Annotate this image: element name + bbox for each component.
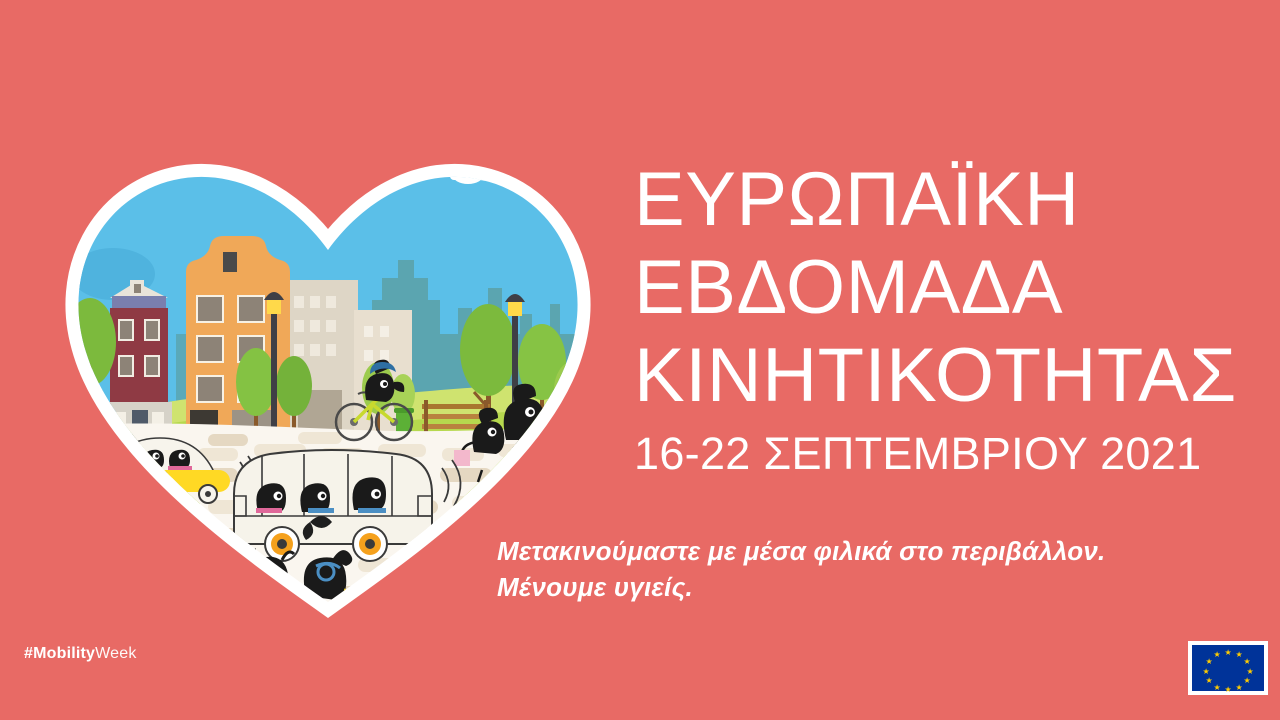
eu-star: ★ (1203, 668, 1210, 675)
shopping-bag (454, 450, 470, 466)
title-line-3: ΚΙΝΗΤΙΚΟΤΗΤΑΣ (634, 332, 1264, 420)
campaign-hashtag: #MobilityWeek (24, 645, 137, 663)
tagline-line-1: Μετακινούμαστε με μέσα φιλικά στο περιβά… (497, 533, 1257, 569)
hashtag-light: Week (95, 645, 136, 662)
eu-star: ★ (1225, 649, 1232, 656)
baby-stroller (550, 434, 586, 468)
event-date: 16-22 ΣΕΠΤΕΜΒΡΙΟΥ 2021 (634, 426, 1264, 482)
eu-flag-field: ★ ★ ★ ★ ★ ★ ★ ★ ★ ★ ★ ★ (1192, 645, 1264, 691)
eu-star: ★ (1214, 651, 1221, 658)
mobility-week-poster: ΕΥΡΩΠΑΪΚΗ ΕΒΔΟΜΑΔΑ ΚΙΝΗΤΙΚΟΤΗΤΑΣ 16-22 Σ… (0, 0, 1280, 720)
hand-bag (276, 592, 296, 606)
eu-star: ★ (1225, 686, 1232, 693)
plug-icon (70, 472, 88, 480)
tagline-line-2: Μένουμε υγιείς. (497, 569, 1257, 605)
title-line-2: ΕΒΔΟΜΑΔΑ (634, 244, 1264, 332)
eu-star: ★ (1214, 684, 1221, 691)
eu-star: ★ (1247, 668, 1254, 675)
eu-star: ★ (1244, 677, 1251, 684)
eu-star: ★ (1236, 684, 1243, 691)
tagline: Μετακινούμαστε με μέσα φιλικά στο περιβά… (497, 533, 1257, 605)
title-line-1: ΕΥΡΩΠΑΪΚΗ (634, 156, 1264, 244)
eu-star: ★ (1206, 677, 1213, 684)
hashtag-bold: #Mobility (24, 645, 95, 662)
european-union-flag: ★ ★ ★ ★ ★ ★ ★ ★ ★ ★ ★ ★ (1188, 641, 1268, 695)
eu-star: ★ (1236, 651, 1243, 658)
eu-star: ★ (1244, 658, 1251, 665)
title-block: ΕΥΡΩΠΑΪΚΗ ΕΒΔΟΜΑΔΑ ΚΙΝΗΤΙΚΟΤΗΤΑΣ 16-22 Σ… (634, 156, 1264, 482)
eu-star: ★ (1206, 658, 1213, 665)
